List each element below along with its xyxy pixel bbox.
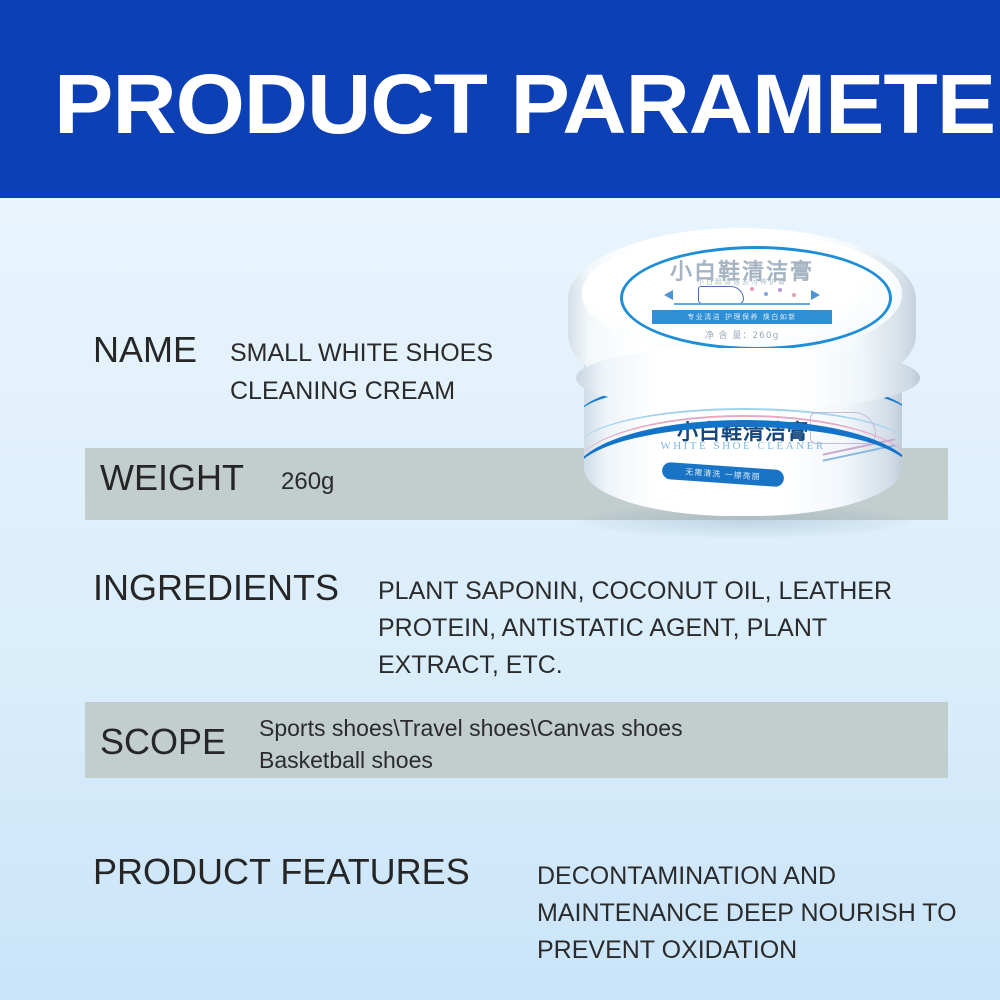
arrow-right-icon — [811, 290, 820, 300]
parameter-label-features: PRODUCT FEATURES — [93, 852, 470, 892]
parameter-value-scope: Sports shoes\Travel shoes\Canvas shoes B… — [259, 712, 819, 776]
product-parameters-page: PRODUCT PARAMETERS 小白鞋清洁膏 WHITE SHOE CLE… — [0, 0, 1000, 1000]
parameter-value-features: DECONTAMINATION AND MAINTENANCE DEEP NOU… — [537, 858, 967, 969]
jar-lid-arrow-row — [664, 286, 820, 308]
parameter-value-weight: 260g — [281, 463, 334, 501]
sparkle-dots-icon — [750, 287, 806, 299]
jar-lid-underline — [674, 303, 810, 305]
jar-lid-bar-text: 专业清洁 护理保养 焕白如新 — [652, 310, 832, 324]
arrow-left-icon — [664, 290, 673, 300]
shoe-icon — [698, 286, 744, 304]
parameter-label-weight: WEIGHT — [100, 458, 244, 498]
parameter-label-name: NAME — [93, 330, 197, 370]
parameter-label-scope: SCOPE — [100, 722, 226, 762]
parameter-label-ingredients: INGREDIENTS — [93, 568, 339, 608]
page-title: PRODUCT PARAMETERS — [54, 62, 1000, 146]
parameter-value-ingredients: PLANT SAPONIN, COCONUT OIL, LEATHER PROT… — [378, 573, 918, 684]
jar-body-stripe-bottom — [584, 420, 902, 516]
header-banner: PRODUCT PARAMETERS — [0, 0, 1000, 198]
parameter-value-name: SMALL WHITE SHOES CLEANING CREAM — [230, 334, 650, 410]
